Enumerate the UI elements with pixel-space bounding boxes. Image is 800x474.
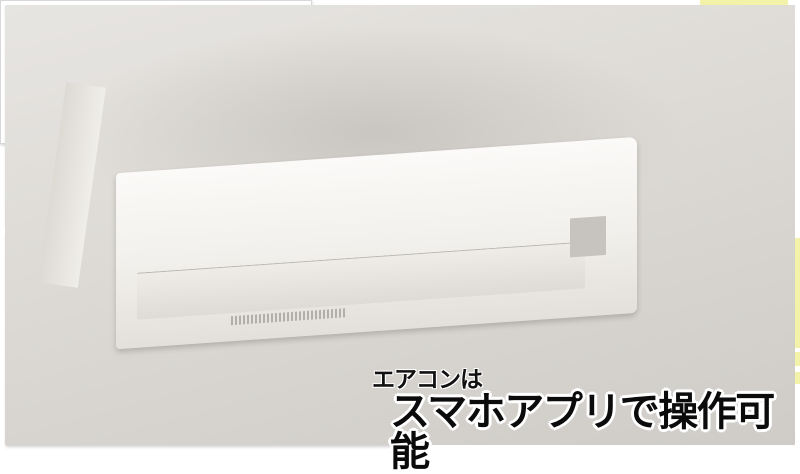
aircon-photo-frame xyxy=(0,0,312,144)
aircon-air-vent xyxy=(136,241,584,319)
caption-line-2: スマホアプリで操作可能 xyxy=(390,392,800,472)
aircon-indicator-panel xyxy=(569,216,605,257)
caption-overlay: エアコンは スマホアプリで操作可能 xyxy=(372,368,800,472)
caption-line-1: エアコンは xyxy=(372,368,800,391)
slide-collage-canvas: マルチ出力で多様な電力ニーズにワンストップ対応 7つのAC出力ポートに加え、4つ… xyxy=(0,0,800,450)
aircon-unit xyxy=(116,136,637,348)
